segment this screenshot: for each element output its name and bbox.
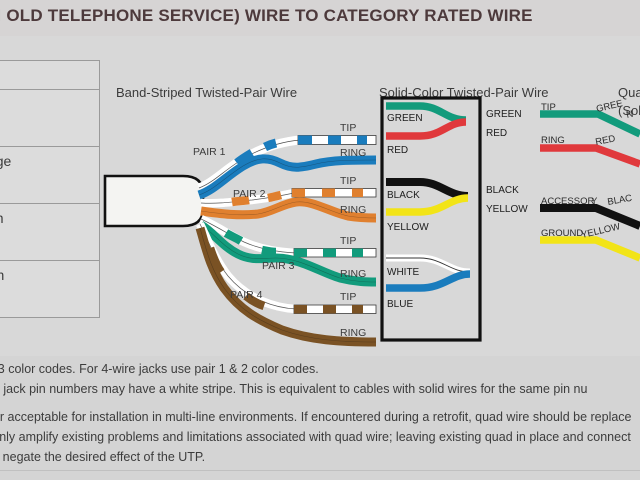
pair4-ring-label: RING bbox=[340, 327, 366, 339]
solid-label-yellow-outer: YELLOW bbox=[486, 204, 528, 215]
quad-label-tip: TIP bbox=[541, 102, 556, 113]
notes-divider bbox=[0, 470, 640, 471]
note-line-1: & 3 color codes. For 4-wire jacks use pa… bbox=[0, 362, 319, 376]
pair1-tip-label: TIP bbox=[340, 122, 356, 134]
solid-label-blue-inner: BLUE bbox=[387, 299, 413, 310]
solid-label-green-outer: GREEN bbox=[486, 109, 522, 120]
quad-yellow-wire bbox=[540, 240, 640, 258]
solid-label-red-inner: RED bbox=[387, 145, 408, 156]
solid-label-black-inner: BLACK bbox=[387, 190, 420, 201]
note-line-2: en jack pin numbers may have a white str… bbox=[0, 382, 587, 396]
quad-label-accessory-y: Y bbox=[591, 196, 598, 207]
pair2-ring-label: RING bbox=[340, 204, 366, 216]
notes-section: & 3 color codes. For 4-wire jacks use pa… bbox=[0, 356, 640, 480]
pair4-tip-label: TIP bbox=[340, 291, 356, 303]
quad-black-wire bbox=[540, 208, 640, 226]
page-title: IN OLD TELEPHONE SERVICE) WIRE TO CATEGO… bbox=[0, 6, 533, 26]
quad-wire-label-red: RED bbox=[594, 133, 616, 148]
pair4-label: PAIR 4 bbox=[230, 289, 263, 301]
quad-green-wire bbox=[540, 114, 640, 134]
quad-red-wire bbox=[540, 148, 640, 164]
pair2-tip-label: TIP bbox=[340, 175, 356, 187]
cable-jacket bbox=[105, 176, 203, 226]
note-line-5: ay negate the desired effect of the UTP. bbox=[0, 450, 205, 464]
pair2-label: PAIR 2 bbox=[233, 188, 266, 200]
pair3-label: PAIR 3 bbox=[262, 260, 295, 272]
pair3-tip-lead-bands bbox=[294, 249, 363, 258]
pair1-label: PAIR 1 bbox=[193, 146, 226, 158]
pair3-ring-label: RING bbox=[340, 268, 366, 280]
solid-label-yellow-inner: YELLOW bbox=[387, 222, 429, 233]
pair1-ring-label: RING bbox=[340, 147, 366, 159]
note-line-4: l only amplify existing problems and lim… bbox=[0, 430, 631, 444]
solid-red-wire bbox=[386, 122, 466, 136]
wire-illustration: PAIR 1 TIP RING PAIR 2 TIP RING bbox=[0, 36, 640, 356]
quad-wire-label-green: GREE bbox=[595, 98, 624, 115]
pair4-tip-lead-bands bbox=[294, 305, 363, 314]
solid-label-green-inner: GREEN bbox=[387, 113, 423, 124]
solid-label-red-outer: RED bbox=[486, 128, 507, 139]
solid-label-black-outer: BLACK bbox=[486, 185, 519, 196]
quad-label-accessory: ACCESSOR bbox=[541, 196, 594, 207]
title-band: IN OLD TELEPHONE SERVICE) WIRE TO CATEGO… bbox=[0, 0, 640, 37]
quad-wire-label-black: BLAC bbox=[607, 193, 633, 208]
note-line-3: ger acceptable for installation in multi… bbox=[0, 410, 632, 424]
solid-label-white-inner: WHITE bbox=[387, 267, 420, 278]
quad-wire-label-green-n: N bbox=[625, 109, 634, 121]
quad-label-ring: RING bbox=[541, 135, 565, 146]
pair3-tip-label: TIP bbox=[340, 235, 356, 247]
quad-label-ground: GROUND bbox=[541, 228, 583, 239]
pair2-tip-lead-bands bbox=[292, 189, 363, 198]
wiring-diagram-page: IN OLD TELEPHONE SERVICE) WIRE TO CATEGO… bbox=[0, 0, 640, 480]
